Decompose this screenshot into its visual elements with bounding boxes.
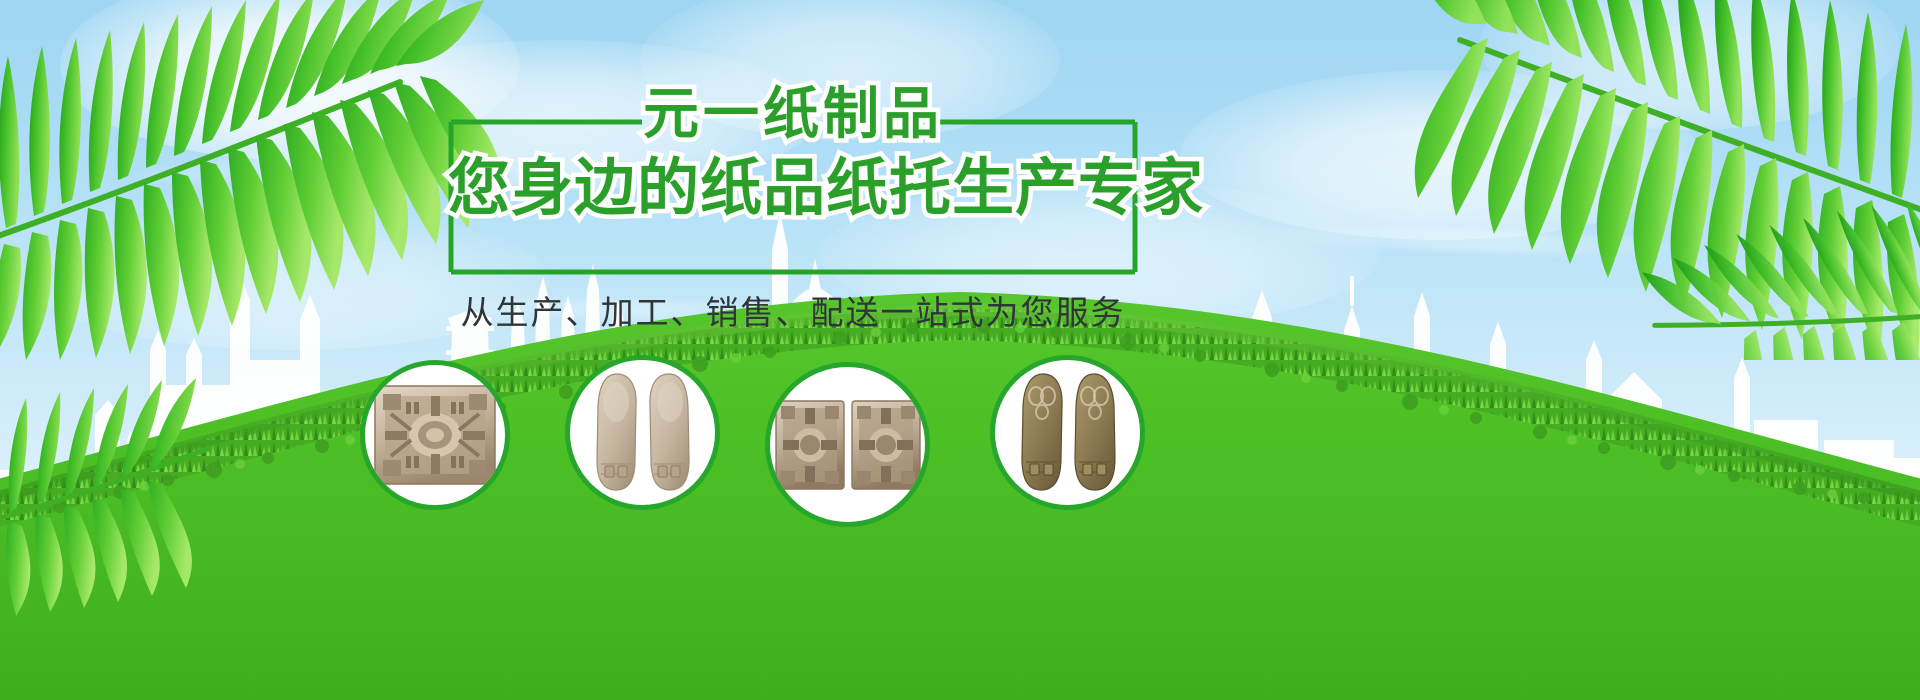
promo-banner: 元一纸制品 您身边的纸品纸托生产专家 从生产、加工、销售、配送一站式为您服务 <box>0 0 1920 700</box>
palm-frond-icon <box>1260 0 1920 360</box>
molded-pulp-shoe-tree-pair-dark-icon <box>1012 370 1124 496</box>
product-circle-2[interactable] <box>565 355 720 510</box>
palm-frond-icon <box>0 330 330 630</box>
headline-block: 元一纸制品 您身边的纸品纸托生产专家 <box>448 86 1138 276</box>
brand-title: 元一纸制品 <box>448 84 1138 146</box>
molded-pulp-square-tray-icon <box>373 380 497 490</box>
molded-pulp-shoe-tree-pair-icon <box>587 368 699 498</box>
product-circle-4[interactable] <box>990 355 1145 510</box>
molded-pulp-two-part-tray-icon <box>774 397 922 493</box>
product-circle-1[interactable] <box>360 360 510 510</box>
product-circle-3[interactable] <box>765 362 930 527</box>
headline-text: 您身边的纸品纸托生产专家 <box>448 152 1138 224</box>
subtitle-text: 从生产、加工、销售、配送一站式为您服务 <box>448 286 1138 334</box>
